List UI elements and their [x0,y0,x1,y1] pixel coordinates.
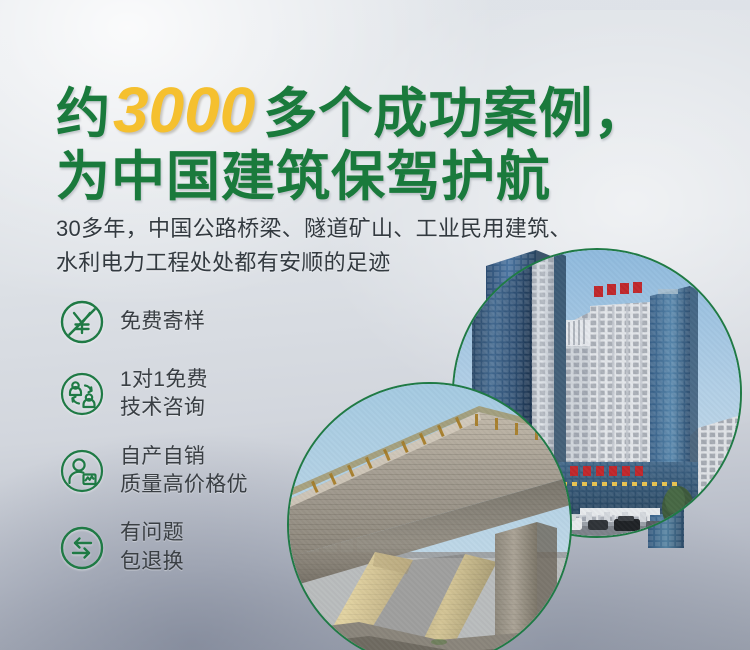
headline-line-2: 为中国建筑保驾护航 [56,150,648,204]
headline-suffix: 多个成功案例， [263,87,648,141]
feature-line: 技术咨询 [120,394,208,422]
feature-list: 免费寄样 [58,298,248,596]
headline-line-1: 约 3000 多个成功案例， [56,78,648,142]
subtitle: 30多年，中国公路桥梁、隧道矿山、工业民用建筑、 水利电力工程处处都有安顺的足迹 [56,212,572,280]
headline-number: 3000 [113,78,255,142]
feature-label-consultation: 1对1免费 技术咨询 [120,366,208,423]
feature-label-return-exchange: 有问题 包退换 [120,519,184,576]
banner-canvas: 约 3000 多个成功案例， 为中国建筑保驾护航 30多年，中国公路桥梁、隧道矿… [0,0,750,650]
feature-item-quality-price[interactable]: 自产自销 质量高价格优 [58,443,248,500]
feature-line: 有问题 [120,519,184,547]
bridge-photo-artwork [289,384,572,650]
feature-label-free-sample: 免费寄样 [120,308,205,336]
headline-prefix: 约 [56,87,111,141]
feature-line: 包退换 [120,548,184,576]
bridge-photo-circle [287,382,572,650]
subtitle-line-1: 30多年，中国公路桥梁、隧道矿山、工业民用建筑、 [56,212,572,246]
feature-line: 质量高价格优 [120,471,248,499]
feature-item-return-exchange[interactable]: 有问题 包退换 [58,519,248,576]
feature-line: 免费寄样 [120,308,205,336]
person-chart-icon [58,447,106,495]
exchange-arrows-icon [58,524,106,572]
feature-item-consultation[interactable]: 1对1免费 技术咨询 [58,366,248,423]
two-people-exchange-icon [58,370,106,418]
feature-line: 自产自销 [120,443,248,471]
no-yen-icon [58,298,106,346]
feature-line: 1对1免费 [120,366,208,394]
feature-label-quality-price: 自产自销 质量高价格优 [120,443,248,500]
subtitle-line-2: 水利电力工程处处都有安顺的足迹 [56,246,572,280]
headline: 约 3000 多个成功案例， 为中国建筑保驾护航 [56,78,648,204]
feature-item-free-sample[interactable]: 免费寄样 [58,298,248,346]
